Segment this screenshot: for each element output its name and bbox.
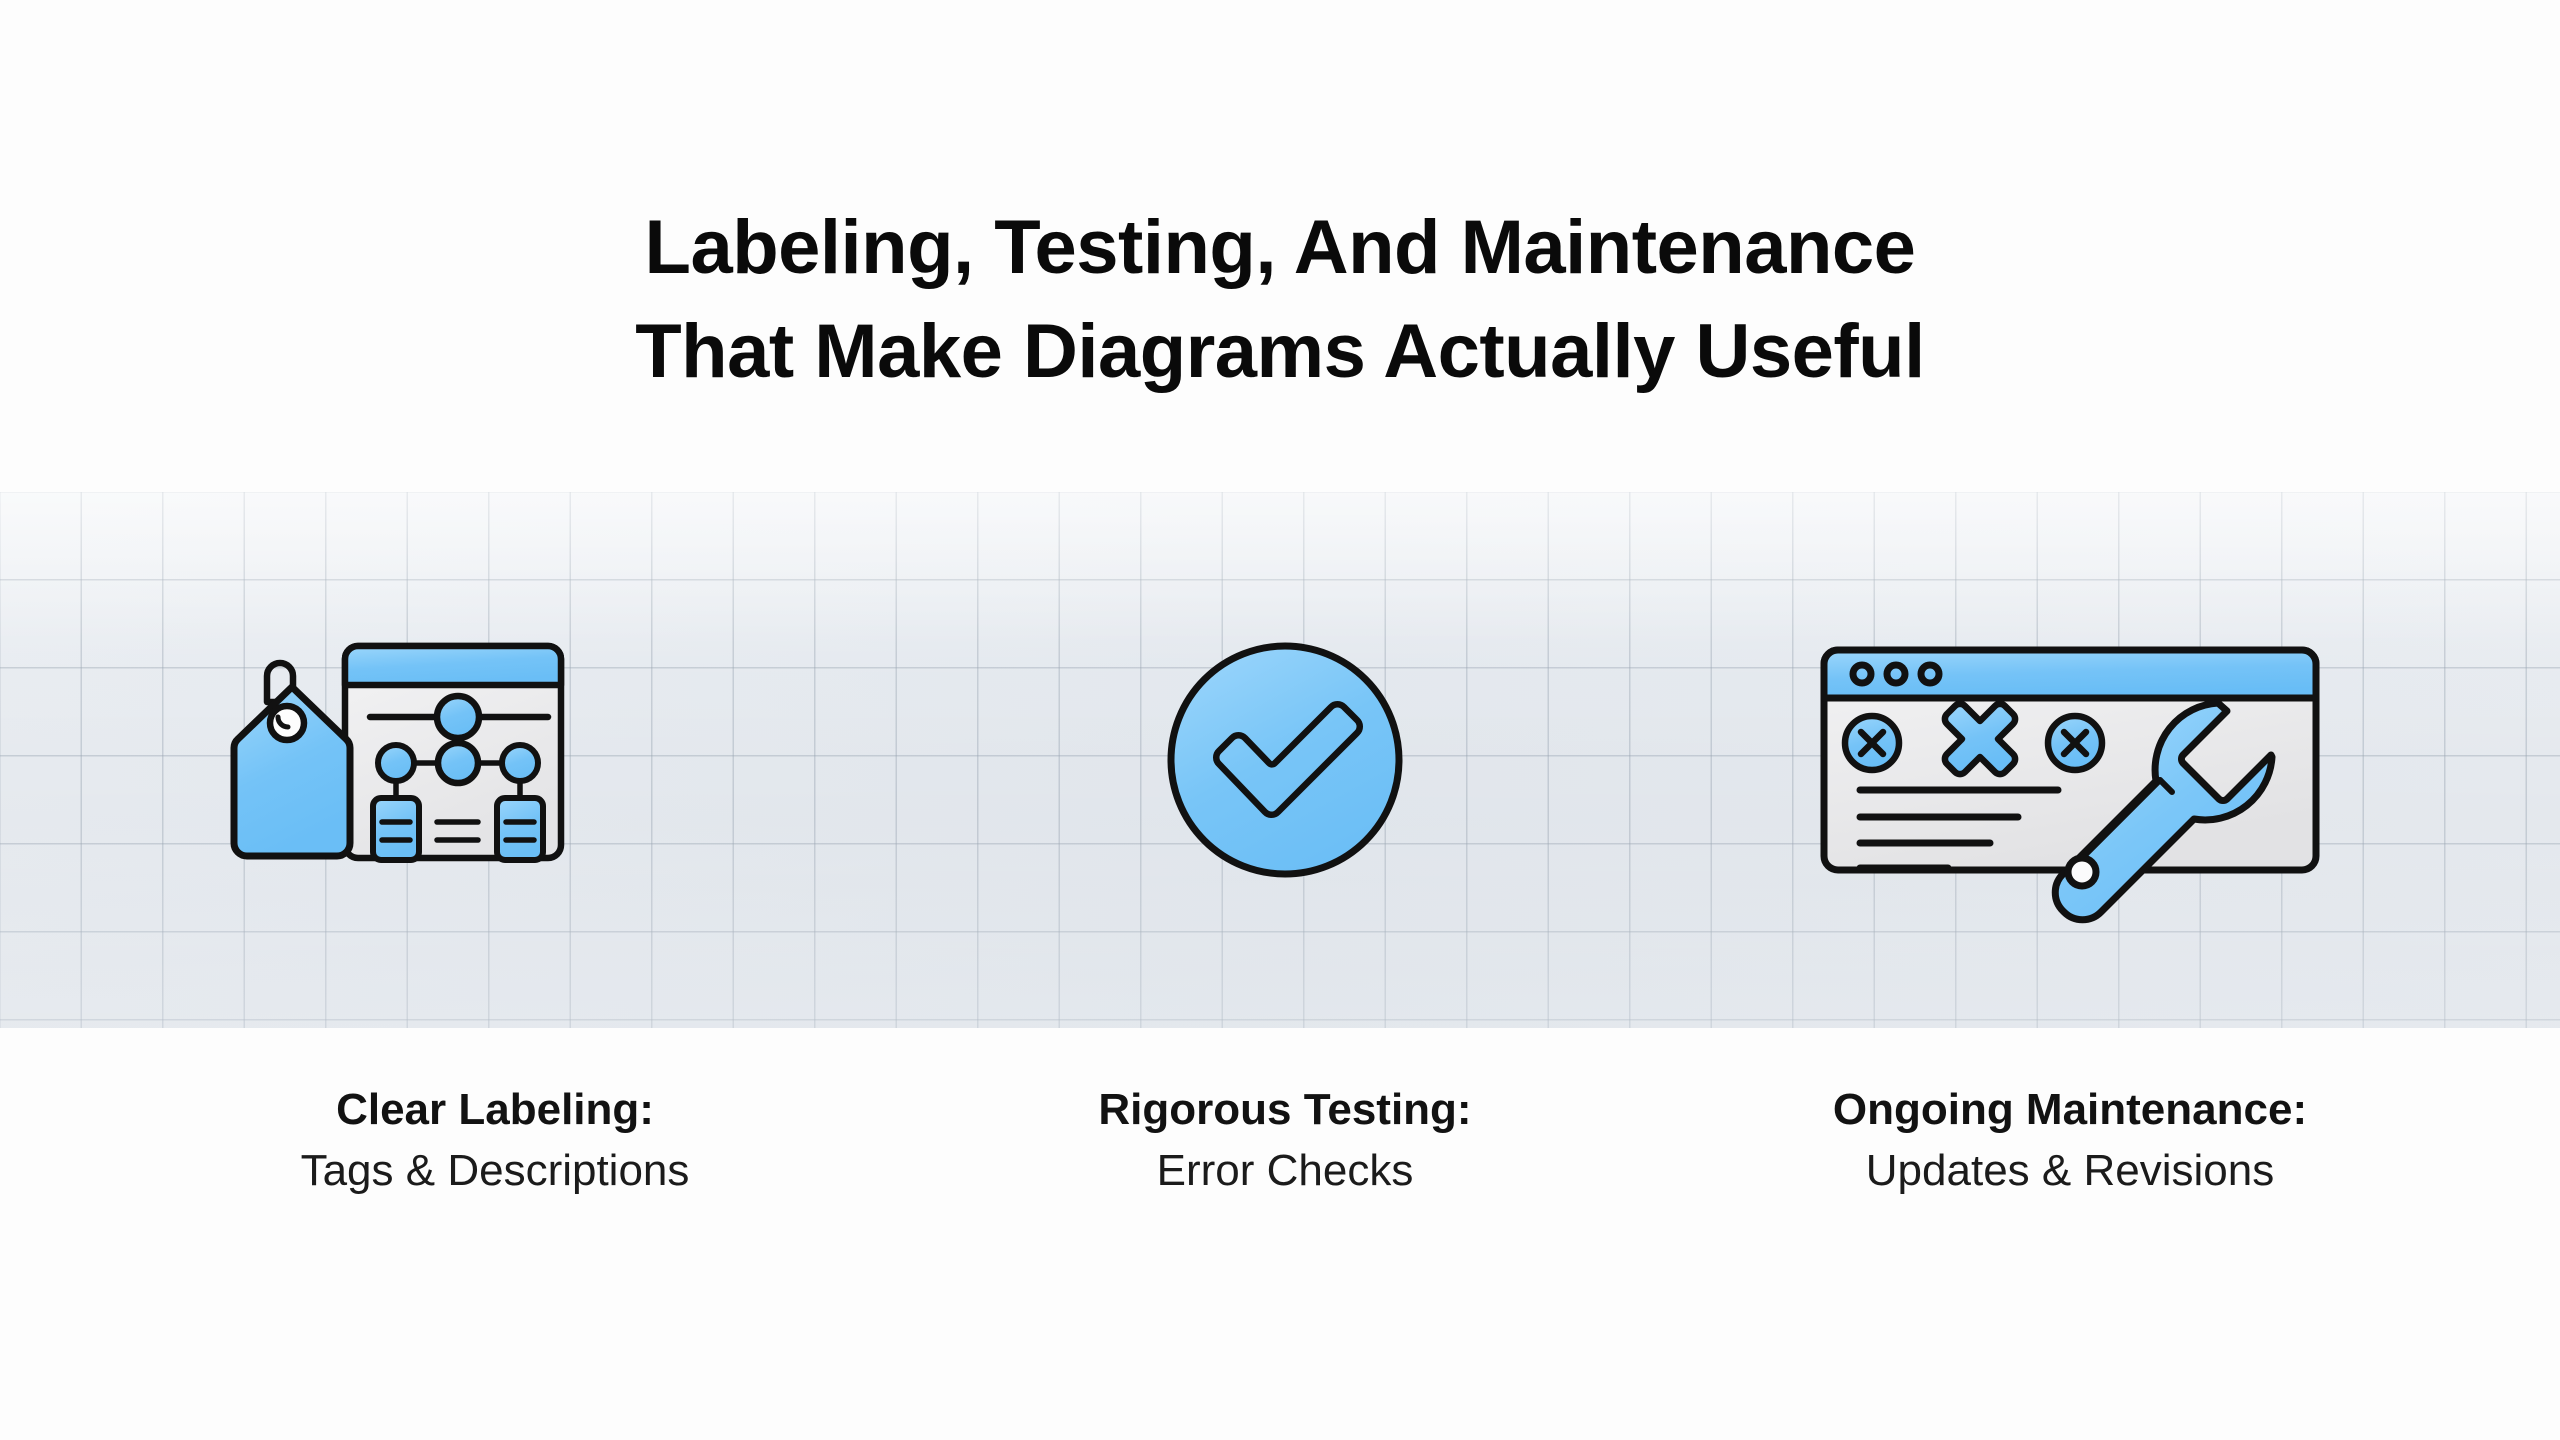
tag-and-diagram-panel-icon	[230, 635, 760, 885]
caption-testing: Rigorous Testing: Error Checks	[990, 1080, 1580, 1202]
caption-labeling-subtext: Tags & Descriptions	[0, 1140, 990, 1202]
caption-labeling: Clear Labeling: Tags & Descriptions	[0, 1080, 990, 1202]
icon-slot-maintenance	[1580, 492, 2560, 1028]
caption-testing-heading: Rigorous Testing:	[990, 1080, 1580, 1140]
browser-window-wrench-icon	[1820, 640, 2320, 880]
diagram-card-right	[497, 798, 543, 860]
caption-maintenance-subtext: Updates & Revisions	[1580, 1140, 2560, 1202]
diagram-panel	[345, 646, 561, 860]
icon-slot-labeling	[0, 492, 990, 1028]
illustration-band	[0, 492, 2560, 1028]
page-title: Labeling, Testing, And Maintenance That …	[0, 196, 2560, 404]
caption-testing-subtext: Error Checks	[990, 1140, 1580, 1202]
caption-maintenance: Ongoing Maintenance: Updates & Revisions	[1580, 1080, 2560, 1202]
browser-title-bar	[1824, 650, 2316, 698]
wrench-handle-hole	[2068, 858, 2096, 886]
caption-maintenance-heading: Ongoing Maintenance:	[1580, 1080, 2560, 1140]
diagram-node-right	[502, 745, 538, 781]
caption-labeling-heading: Clear Labeling:	[0, 1080, 990, 1140]
panel-title-bar	[345, 646, 561, 685]
check-circle-background	[1171, 646, 1399, 874]
page-title-line-1: Labeling, Testing, And Maintenance	[0, 196, 2560, 300]
page-title-line-2: That Make Diagrams Actually Useful	[0, 300, 2560, 404]
diagram-node-top	[437, 696, 479, 738]
diagram-node-left	[378, 745, 414, 781]
blue-circle-checkmark-icon	[1165, 640, 1405, 880]
diagram-node-center	[438, 743, 478, 783]
diagram-card-left	[373, 798, 419, 860]
icon-slot-testing	[990, 492, 1580, 1028]
tag-hole	[270, 706, 304, 740]
caption-row: Clear Labeling: Tags & Descriptions Rigo…	[0, 1080, 2560, 1220]
